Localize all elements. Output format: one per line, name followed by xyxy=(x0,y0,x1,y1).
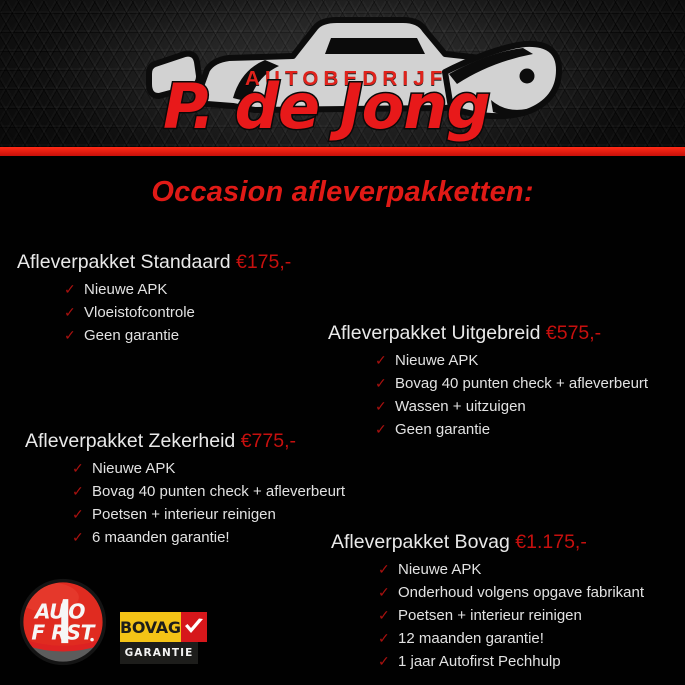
package-feature-list: ✓ Nieuwe APK ✓ Bovag 40 punten check + a… xyxy=(328,350,648,442)
feature-label: Nieuwe APK xyxy=(395,350,478,373)
bovag-label: BOVAG xyxy=(120,612,181,642)
package-price: €1.175,- xyxy=(515,531,587,553)
list-item: ✓ 6 maanden garantie! xyxy=(72,527,345,550)
package-bovag: Afleverpakket Bovag €1.175,- ✓ Nieuwe AP… xyxy=(331,531,644,674)
package-feature-list: ✓ Nieuwe APK ✓ Onderhoud volgens opgave … xyxy=(331,559,644,674)
bovag-garantie-label: GARANTIE xyxy=(120,642,198,664)
list-item: ✓ Nieuwe APK xyxy=(72,458,345,481)
company-logo: AUTOBEDRIJF P. de Jong xyxy=(145,14,565,144)
logo-company-name: P. de Jong xyxy=(163,76,490,138)
check-icon: ✓ xyxy=(64,279,84,300)
package-heading: Afleverpakket Standaard €175,- xyxy=(17,251,291,274)
check-icon: ✓ xyxy=(378,605,398,626)
bovag-top-row: BOVAG xyxy=(120,612,198,642)
check-icon: ✓ xyxy=(64,325,84,346)
package-zekerheid: Afleverpakket Zekerheid €775,- ✓ Nieuwe … xyxy=(25,430,345,550)
package-name: Afleverpakket Bovag xyxy=(331,531,510,553)
autofirst-badge-icon: AU O F RST xyxy=(19,578,107,666)
check-icon: ✓ xyxy=(375,350,395,371)
list-item: ✓ Bovag 40 punten check + afleverbeurt xyxy=(72,481,345,504)
checkmark-icon xyxy=(184,618,204,636)
bovag-check-block xyxy=(181,612,207,642)
package-price: €175,- xyxy=(236,251,291,273)
feature-label: Bovag 40 punten check + afleverbeurt xyxy=(395,373,648,396)
check-icon: ✓ xyxy=(72,481,92,502)
package-name: Afleverpakket Uitgebreid xyxy=(328,322,540,344)
feature-label: 6 maanden garantie! xyxy=(92,527,230,550)
check-icon: ✓ xyxy=(64,302,84,323)
list-item: ✓ Geen garantie xyxy=(375,419,648,442)
feature-label: Bovag 40 punten check + afleverbeurt xyxy=(92,481,345,504)
check-icon: ✓ xyxy=(72,458,92,479)
package-uitgebreid: Afleverpakket Uitgebreid €575,- ✓ Nieuwe… xyxy=(328,322,648,442)
feature-label: 1 jaar Autofirst Pechhulp xyxy=(398,651,561,674)
check-icon: ✓ xyxy=(378,628,398,649)
list-item: ✓ Vloeistofcontrole xyxy=(64,302,291,325)
bovag-garantie-logo: BOVAG GARANTIE xyxy=(120,612,198,664)
package-price: €575,- xyxy=(546,322,601,344)
package-standaard: Afleverpakket Standaard €175,- ✓ Nieuwe … xyxy=(17,251,291,348)
package-heading: Afleverpakket Zekerheid €775,- xyxy=(25,430,345,453)
red-divider xyxy=(0,147,685,156)
check-icon: ✓ xyxy=(378,559,398,580)
feature-label: Nieuwe APK xyxy=(398,559,481,582)
list-item: ✓ Nieuwe APK xyxy=(378,559,644,582)
feature-label: Poetsen + interieur reinigen xyxy=(398,605,582,628)
package-name: Afleverpakket Zekerheid xyxy=(25,430,235,452)
list-item: ✓ Nieuwe APK xyxy=(375,350,648,373)
feature-label: Geen garantie xyxy=(395,419,490,442)
list-item: ✓ Geen garantie xyxy=(64,325,291,348)
check-icon: ✓ xyxy=(378,651,398,672)
feature-label: Onderhoud volgens opgave fabrikant xyxy=(398,582,644,605)
list-item: ✓ Poetsen + interieur reinigen xyxy=(378,605,644,628)
feature-label: Nieuwe APK xyxy=(92,458,175,481)
feature-label: 12 maanden garantie! xyxy=(398,628,544,651)
package-name: Afleverpakket Standaard xyxy=(17,251,231,273)
header-banner: AUTOBEDRIJF P. de Jong xyxy=(0,0,685,147)
list-item: ✓ Nieuwe APK xyxy=(64,279,291,302)
feature-label: Geen garantie xyxy=(84,325,179,348)
feature-label: Poetsen + interieur reinigen xyxy=(92,504,276,527)
check-icon: ✓ xyxy=(375,396,395,417)
package-heading: Afleverpakket Uitgebreid €575,- xyxy=(328,322,648,345)
poster: AUTOBEDRIJF P. de Jong Occasion afleverp… xyxy=(0,0,685,685)
list-item: ✓ Bovag 40 punten check + afleverbeurt xyxy=(375,373,648,396)
check-icon: ✓ xyxy=(72,527,92,548)
list-item: ✓ 1 jaar Autofirst Pechhulp xyxy=(378,651,644,674)
check-icon: ✓ xyxy=(375,419,395,440)
package-price: €775,- xyxy=(241,430,296,452)
list-item: ✓ Wassen + uitzuigen xyxy=(375,396,648,419)
feature-label: Wassen + uitzuigen xyxy=(395,396,526,419)
autofirst-logo: AU O F RST xyxy=(19,578,107,666)
package-heading: Afleverpakket Bovag €1.175,- xyxy=(331,531,644,554)
page-title: Occasion afleverpakketten: xyxy=(0,176,685,209)
list-item: ✓ Poetsen + interieur reinigen xyxy=(72,504,345,527)
check-icon: ✓ xyxy=(72,504,92,525)
feature-label: Vloeistofcontrole xyxy=(84,302,195,325)
list-item: ✓ 12 maanden garantie! xyxy=(378,628,644,651)
package-feature-list: ✓ Nieuwe APK ✓ Bovag 40 punten check + a… xyxy=(25,458,345,550)
feature-label: Nieuwe APK xyxy=(84,279,167,302)
package-feature-list: ✓ Nieuwe APK ✓ Vloeistofcontrole ✓ Geen … xyxy=(17,279,291,348)
list-item: ✓ Onderhoud volgens opgave fabrikant xyxy=(378,582,644,605)
check-icon: ✓ xyxy=(378,582,398,603)
check-icon: ✓ xyxy=(375,373,395,394)
